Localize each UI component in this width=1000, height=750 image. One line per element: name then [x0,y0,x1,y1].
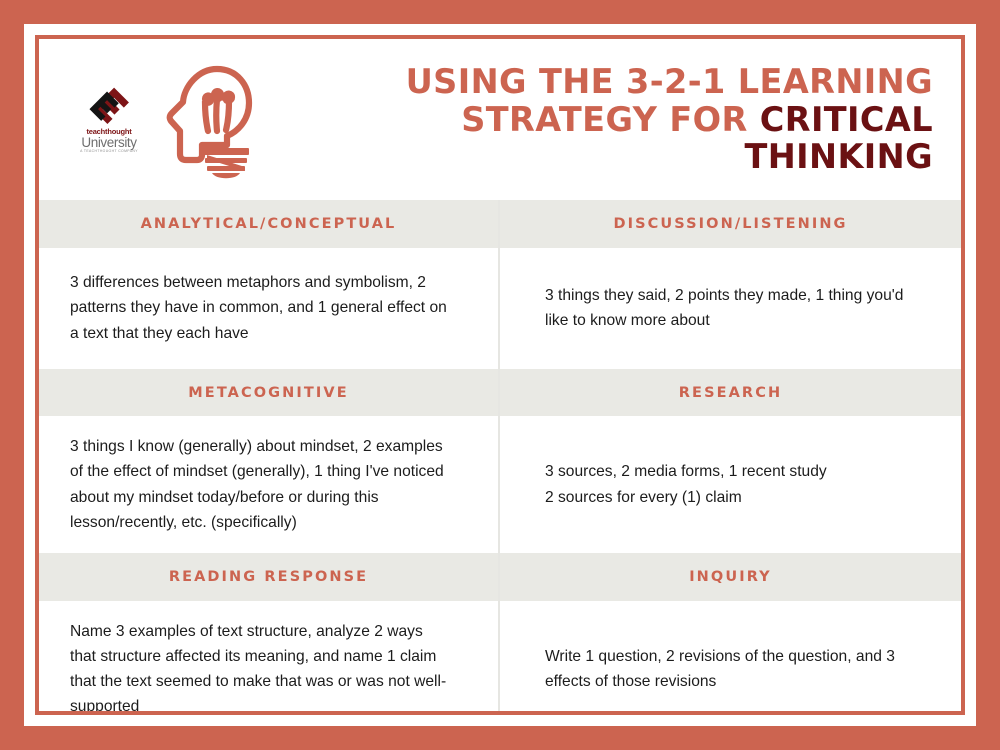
table-body-row-1: 3 differences between metaphors and symb… [39,248,961,369]
table-cell-header-discussion: DISCUSSION/LISTENING [500,200,961,248]
header-label: RESEARCH [500,369,961,417]
table-cell-header-metacognitive: METACOGNITIVE [39,369,500,417]
cell-text-line-1: 3 sources, 2 media forms, 1 recent study [545,459,827,484]
table-cell-header-analytical: ANALYTICAL/CONCEPTUAL [39,200,500,248]
table-header-row-3: READING RESPONSE INQUIRY [39,553,961,601]
table-cell-body-metacognitive: 3 things I know (generally) about mindse… [39,416,500,553]
cell-text: 3 things I know (generally) about mindse… [39,416,498,553]
logo-wordmark-sub: A TEACHTHOUGHT COMPANY [80,150,138,153]
cell-text: 3 sources, 2 media forms, 1 recent study… [500,441,863,528]
table-cell-header-research: RESEARCH [500,369,961,417]
cell-text-line-2: 2 sources for every (1) claim [545,485,827,510]
teachthought-mark-icon [81,85,137,127]
strategy-table: ANALYTICAL/CONCEPTUAL DISCUSSION/LISTENI… [39,200,961,711]
table-cell-header-inquiry: INQUIRY [500,553,961,601]
cell-text: 3 things they said, 2 points they made, … [500,265,961,352]
table-cell-header-reading-response: READING RESPONSE [39,553,500,601]
header-label: METACOGNITIVE [39,369,498,417]
table-cell-body-discussion: 3 things they said, 2 points they made, … [500,248,961,369]
title-line-1: USING THE 3-2-1 LEARNING [406,62,933,101]
poster-inner-rule: teachthought University A TEACHTHOUGHT C… [35,35,965,715]
poster-title: USING THE 3-2-1 LEARNING STRATEGY FOR CR… [273,63,933,176]
poster-white-ring: teachthought University A TEACHTHOUGHT C… [24,24,976,726]
title-line-2-plain: STRATEGY FOR [461,100,760,139]
poster-header: teachthought University A TEACHTHOUGHT C… [39,39,961,200]
header-label: READING RESPONSE [39,553,498,601]
logo-wordmark-main: University [81,136,136,150]
poster-canvas: teachthought University A TEACHTHOUGHT C… [39,39,961,711]
cell-text: Name 3 examples of text structure, analy… [39,601,498,712]
cell-text: Write 1 question, 2 revisions of the que… [500,626,961,711]
table-cell-body-research: 3 sources, 2 media forms, 1 recent study… [500,416,961,553]
title-block: USING THE 3-2-1 LEARNING STRATEGY FOR CR… [255,63,955,176]
table-body-row-3: Name 3 examples of text structure, analy… [39,601,961,712]
table-cell-body-analytical: 3 differences between metaphors and symb… [39,248,500,369]
title-line-2-accent: CRITICAL THINKING [744,100,933,177]
teachthought-university-logo: teachthought University A TEACHTHOUGHT C… [73,85,145,153]
header-label: INQUIRY [500,553,961,601]
table-header-row-2: METACOGNITIVE RESEARCH [39,369,961,417]
table-cell-body-reading-response: Name 3 examples of text structure, analy… [39,601,500,712]
header-label: DISCUSSION/LISTENING [500,200,961,248]
table-cell-body-inquiry: Write 1 question, 2 revisions of the que… [500,601,961,712]
table-header-row-1: ANALYTICAL/CONCEPTUAL DISCUSSION/LISTENI… [39,200,961,248]
header-label: ANALYTICAL/CONCEPTUAL [39,200,498,248]
table-body-row-2: 3 things I know (generally) about mindse… [39,416,961,553]
cell-text: 3 differences between metaphors and symb… [39,252,498,364]
infographic-poster: teachthought University A TEACHTHOUGHT C… [0,0,1000,750]
lightbulb-head-icon [159,59,255,181]
brand-block: teachthought University A TEACHTHOUGHT C… [73,59,255,181]
